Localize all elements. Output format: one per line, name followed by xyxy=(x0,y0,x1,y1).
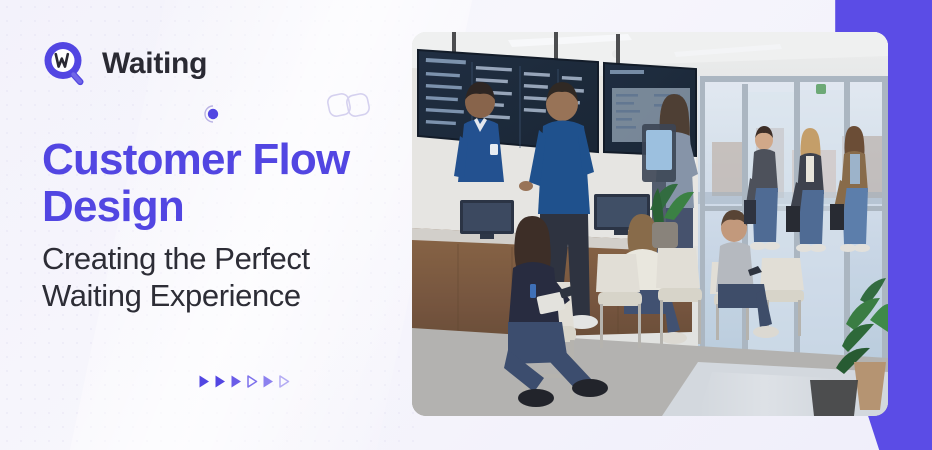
orbit-dot-icon xyxy=(200,103,222,125)
magnifier-w-logo-icon xyxy=(40,38,92,90)
headline-block: Customer Flow Design Creating the Perfec… xyxy=(42,136,402,315)
brand-logo[interactable]: Waiting xyxy=(40,38,207,90)
overlapping-rounded-squares-icon xyxy=(325,88,373,122)
play-arrow-icon-5 xyxy=(262,374,275,389)
brand-name: Waiting xyxy=(102,49,207,79)
play-arrows-icon xyxy=(198,374,291,389)
play-arrow-icon-3 xyxy=(230,374,243,389)
page-subtitle: Creating the Perfect Waiting Experience xyxy=(42,240,402,314)
banner: Waiting Customer Flow Design Creating th… xyxy=(0,0,932,450)
waiting-room-photo xyxy=(412,32,888,416)
play-arrow-icon-6 xyxy=(278,374,291,389)
page-title: Customer Flow Design xyxy=(42,136,402,230)
play-arrow-icon-2 xyxy=(214,374,227,389)
play-arrow-icon-1 xyxy=(198,374,211,389)
play-arrow-icon-4 xyxy=(246,374,259,389)
